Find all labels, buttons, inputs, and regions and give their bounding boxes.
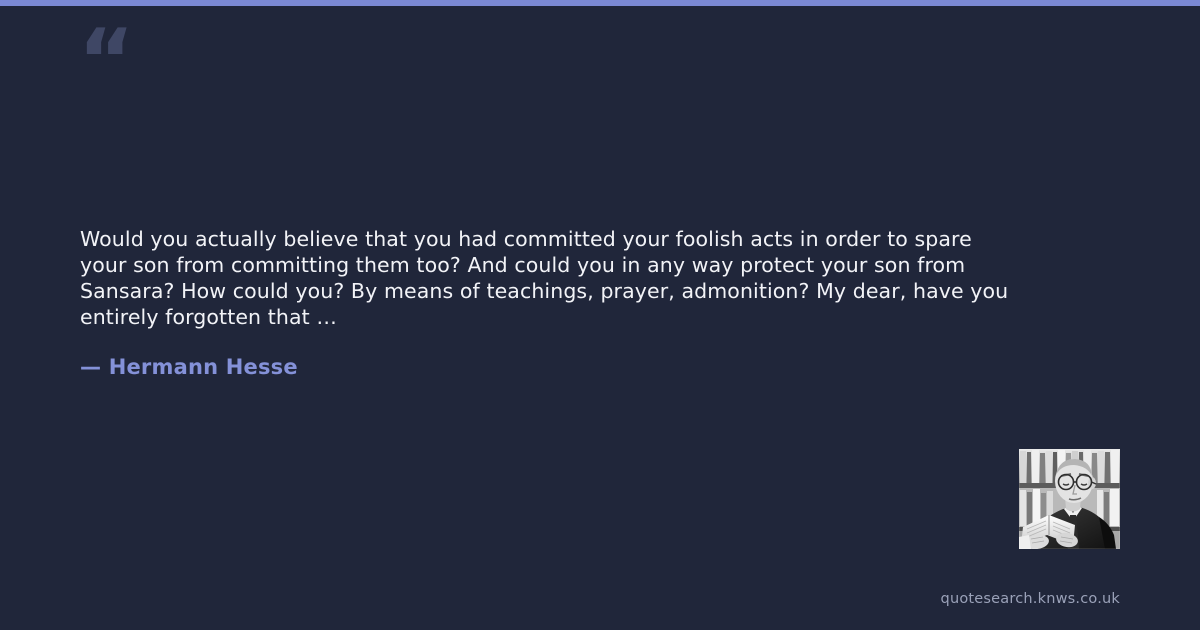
top-accent-bar: [0, 0, 1200, 6]
author-portrait-image: [1019, 449, 1120, 549]
open-quote-icon: “: [78, 18, 133, 104]
quote-author: — Hermann Hesse: [80, 355, 298, 379]
quote-card: “ Would you actually believe that you ha…: [0, 0, 1200, 630]
author-portrait: [1019, 449, 1120, 549]
source-url[interactable]: quotesearch.knws.co.uk: [941, 591, 1120, 607]
quote-text: Would you actually believe that you had …: [80, 226, 1010, 330]
